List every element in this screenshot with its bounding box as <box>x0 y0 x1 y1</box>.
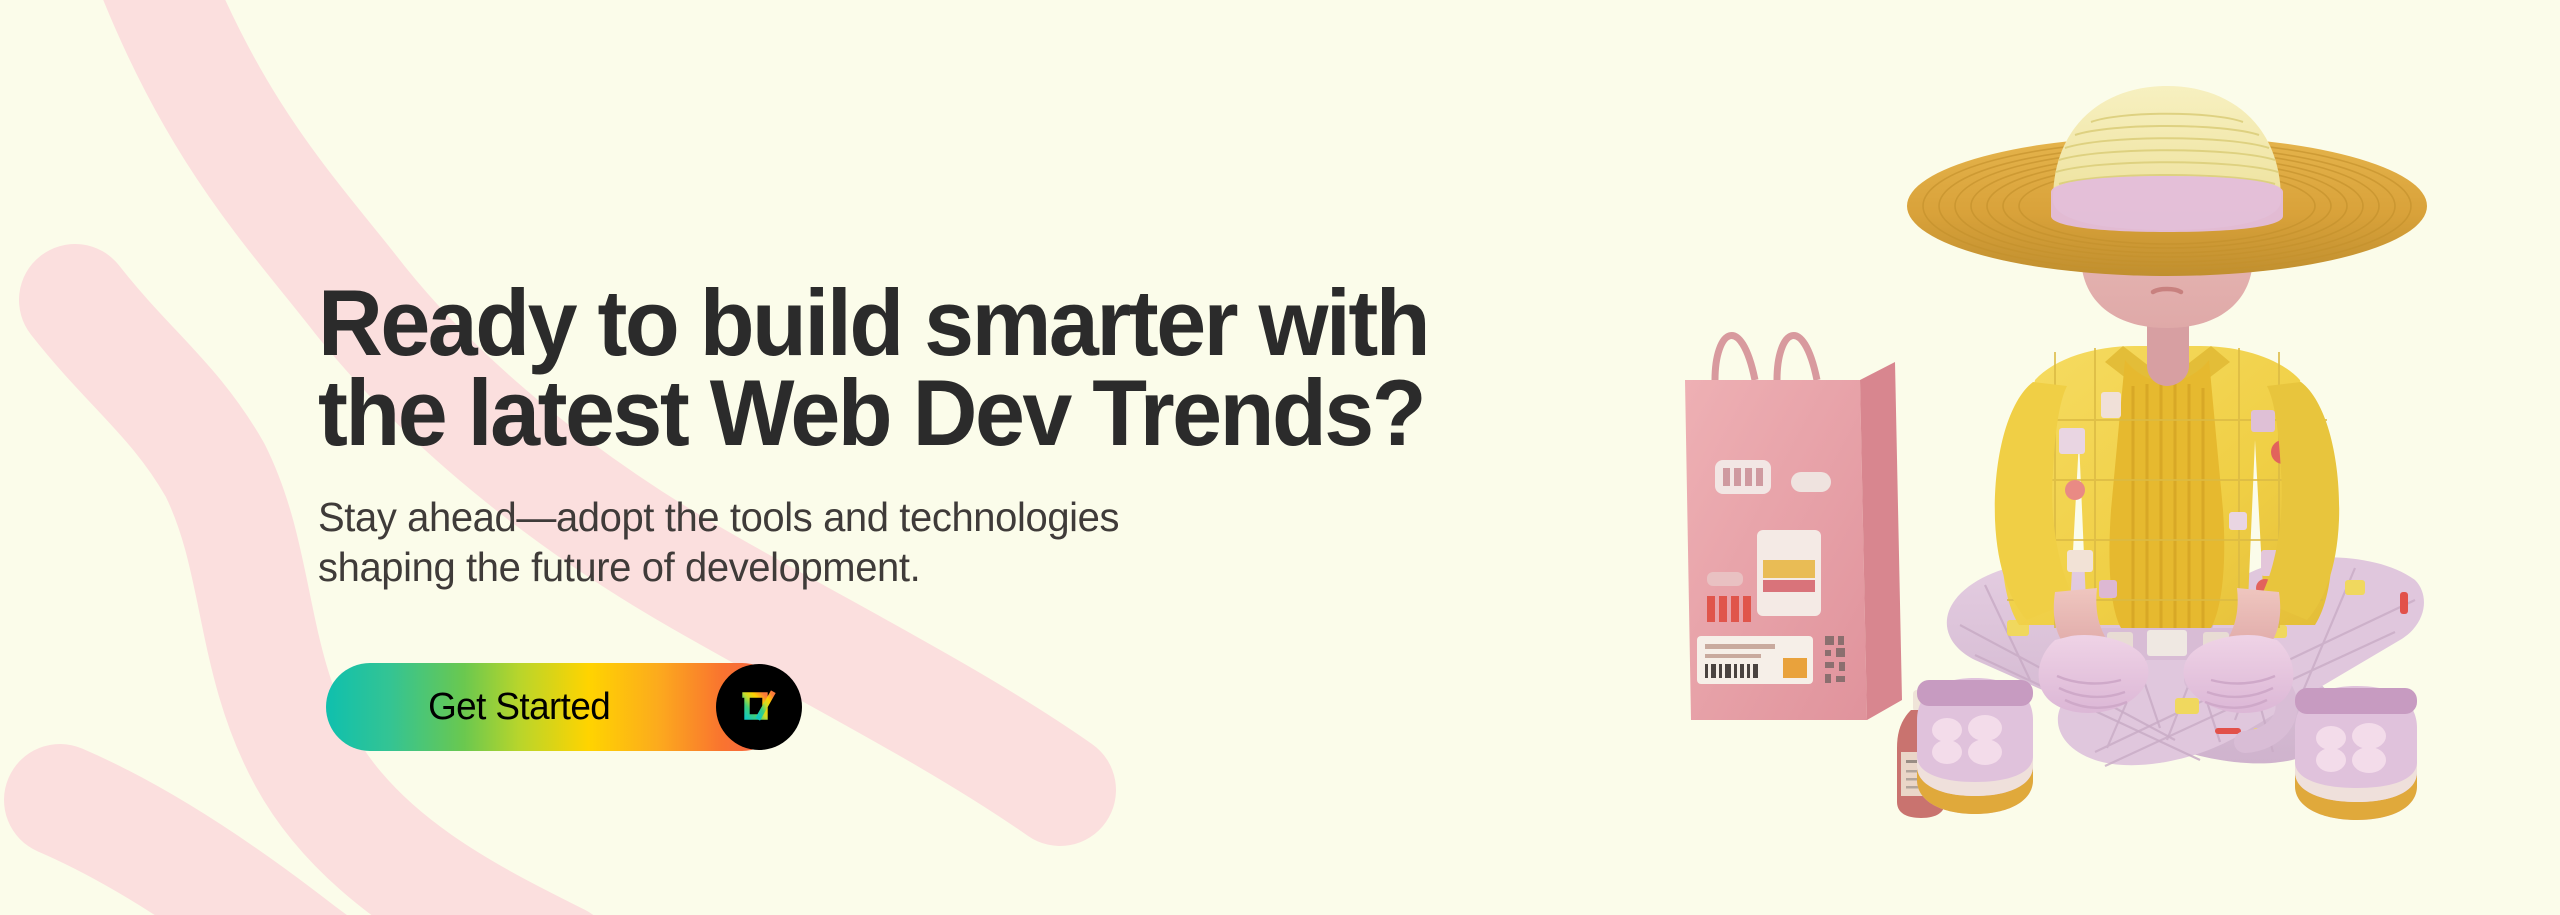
patterned-yellow-shirt <box>1995 346 2339 660</box>
ribbon-lower <box>60 800 560 915</box>
cta-banner: Ready to build smarter with the latest W… <box>0 0 2560 915</box>
page-title: Ready to build smarter with the latest W… <box>318 278 1493 458</box>
get-started-button[interactable]: Get Started <box>326 663 786 751</box>
seated-character-3d-illustration <box>1655 80 2515 915</box>
page-subtitle: Stay ahead—adopt the tools and technolog… <box>318 492 1517 592</box>
copy-block: Ready to build smarter with the latest W… <box>318 278 1548 593</box>
straw-sun-hat <box>1907 86 2427 276</box>
cta-container: Get Started <box>326 663 786 751</box>
pink-shopping-bag <box>1685 335 1902 720</box>
get-started-label: Get Started <box>333 686 779 729</box>
brand-logo-icon <box>716 664 802 750</box>
